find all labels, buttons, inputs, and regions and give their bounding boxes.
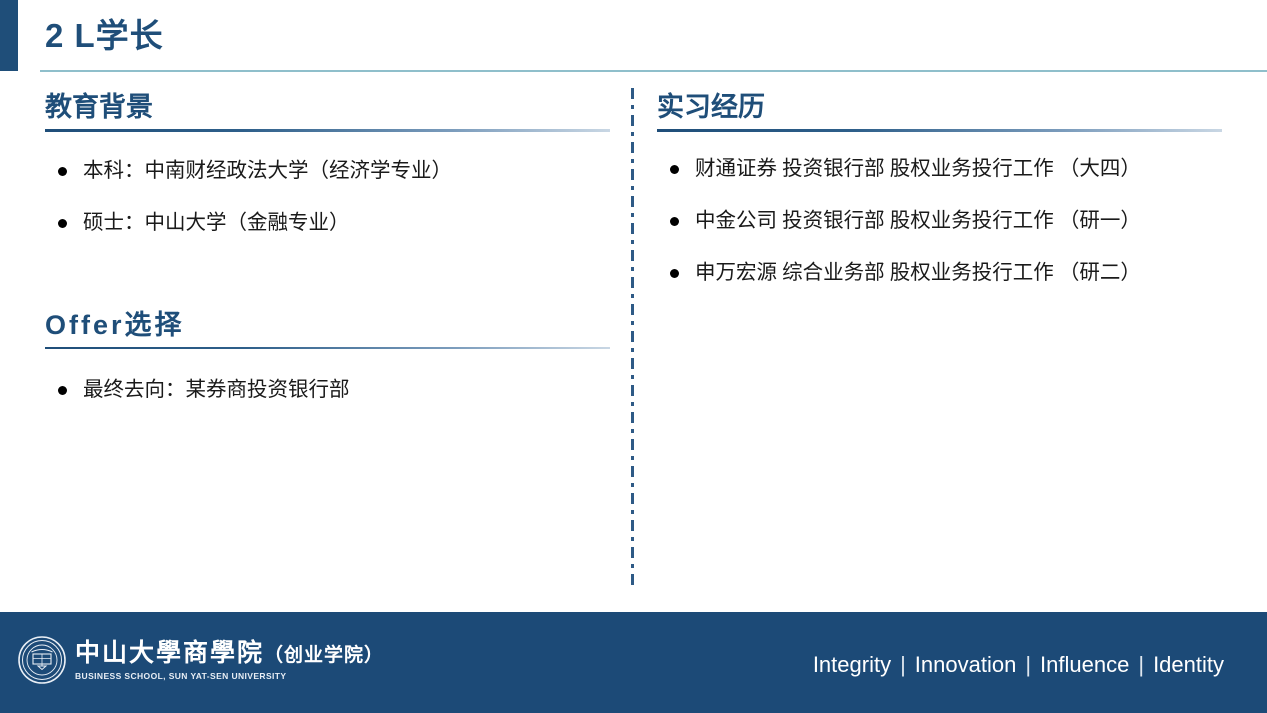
- list-item: 中金公司 投资银行部 股权业务投行工作 （研一）: [657, 208, 1222, 234]
- tagline-separator: |: [1129, 650, 1153, 680]
- section-underline-offer: [45, 347, 610, 350]
- tagline-separator: |: [891, 650, 915, 680]
- logo-chinese-suffix: （创业学院）: [264, 645, 384, 666]
- left-column: 教育背景 本科：中南财经政法大学（经济学专业） 硕士：中山大学（金融专业） Of…: [45, 88, 610, 403]
- list-item: 申万宏源 综合业务部 股权业务投行工作 （研二）: [657, 260, 1222, 286]
- offer-bullet-list: 最终去向：某券商投资银行部: [45, 377, 610, 403]
- section-underline-education: [45, 129, 610, 132]
- list-item-text: 申万宏源 综合业务部 股权业务投行工作 （研二）: [695, 262, 1141, 284]
- logo-chinese-name: 中山大學商學院（创业学院）: [75, 639, 384, 670]
- section-education: 教育背景 本科：中南财经政法大学（经济学专业） 硕士：中山大学（金融专业）: [45, 88, 610, 236]
- list-item-text: 最终去向：某券商投资银行部: [83, 379, 350, 401]
- list-item-text: 财通证券 投资银行部 股权业务投行工作 （大四）: [695, 158, 1141, 180]
- bullet-dot-icon: [58, 167, 67, 176]
- list-item-text: 中金公司 投资银行部 股权业务投行工作 （研一）: [695, 210, 1141, 232]
- education-bullet-list: 本科：中南财经政法大学（经济学专业） 硕士：中山大学（金融专业）: [45, 158, 610, 236]
- section-heading-education: 教育背景: [45, 88, 610, 126]
- list-item-text: 硕士：中山大学（金融专业）: [83, 212, 350, 234]
- list-item: 财通证券 投资银行部 股权业务投行工作 （大四）: [657, 156, 1222, 182]
- bullet-dot-icon: [670, 165, 679, 174]
- right-column: 实习经历 财通证券 投资银行部 股权业务投行工作 （大四） 中金公司 投资银行部…: [657, 88, 1222, 286]
- bullet-dot-icon: [670, 269, 679, 278]
- section-heading-internship: 实习经历: [657, 88, 1222, 126]
- list-item-text: 本科：中南财经政法大学（经济学专业）: [83, 160, 452, 182]
- title-divider-line: [40, 70, 1267, 72]
- footer-tagline: Integrity|Innovation|Influence|Identity: [813, 650, 1224, 680]
- column-divider-dashdot: [631, 88, 634, 586]
- section-offer: Offer选择 最终去向：某券商投资银行部: [45, 306, 610, 404]
- tagline-item-identity: Identity: [1153, 652, 1224, 677]
- bullet-dot-icon: [58, 219, 67, 228]
- section-internship: 实习经历 财通证券 投资银行部 股权业务投行工作 （大四） 中金公司 投资银行部…: [657, 88, 1222, 286]
- bullet-dot-icon: [670, 217, 679, 226]
- internship-bullet-list: 财通证券 投资银行部 股权业务投行工作 （大四） 中金公司 投资银行部 股权业务…: [657, 156, 1222, 286]
- slide-canvas: 2 L学长 教育背景 本科：中南财经政法大学（经济学专业） 硕士：中山大学（金融…: [0, 0, 1267, 713]
- page-title: 2 L学长: [45, 14, 164, 58]
- list-item: 本科：中南财经政法大学（经济学专业）: [45, 158, 610, 184]
- list-item: 硕士：中山大学（金融专业）: [45, 210, 610, 236]
- section-heading-offer: Offer选择: [45, 306, 610, 344]
- title-accent-bar: [0, 0, 18, 71]
- section-underline-internship: [657, 129, 1222, 132]
- tagline-item-influence: Influence: [1040, 652, 1129, 677]
- logo-english-name: BUSINESS SCHOOL, SUN YAT-SEN UNIVERSITY: [75, 671, 384, 682]
- tagline-separator: |: [1016, 650, 1040, 680]
- slide-title-bar: 2 L学长: [0, 0, 1267, 71]
- list-item: 最终去向：某券商投资银行部: [45, 377, 610, 403]
- university-seal-icon: [18, 636, 66, 684]
- logo-chinese-main: 中山大學商學院: [75, 640, 264, 667]
- bullet-dot-icon: [58, 386, 67, 395]
- university-logo: 中山大學商學院（创业学院） BUSINESS SCHOOL, SUN YAT-S…: [18, 636, 384, 684]
- tagline-item-integrity: Integrity: [813, 652, 891, 677]
- logo-text-block: 中山大學商學院（创业学院） BUSINESS SCHOOL, SUN YAT-S…: [75, 639, 384, 682]
- tagline-item-innovation: Innovation: [915, 652, 1017, 677]
